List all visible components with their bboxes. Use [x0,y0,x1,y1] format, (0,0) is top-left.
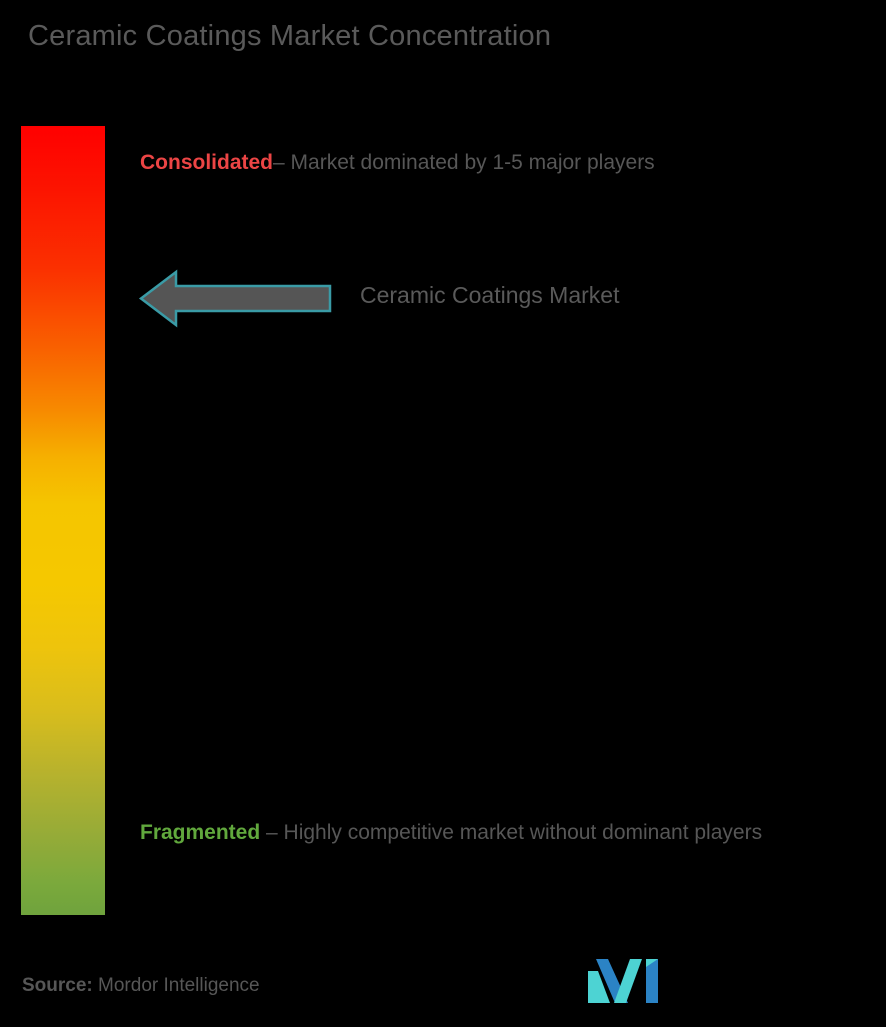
legend-consolidated-keyword: Consolidated [140,151,273,174]
mi-monogram-icon [588,957,662,1003]
left-arrow-icon [136,266,336,332]
page-title: Ceramic Coatings Market Concentration [28,20,551,53]
source-value: Mordor Intelligence [93,975,260,996]
market-position-label: Ceramic Coatings Market [360,282,619,309]
legend-fragmented-keyword: Fragmented [140,821,260,844]
market-position-arrow [136,266,336,332]
mordor-intelligence-logo [588,957,662,1003]
legend-fragmented-description: – Highly competitive market without domi… [260,821,762,844]
source-label: Source: [22,975,93,996]
legend-consolidated: Consolidated– Market dominated by 1-5 ma… [140,134,840,192]
source-attribution: Source: Mordor Intelligence [22,975,260,997]
legend-consolidated-description: – Market dominated by 1-5 major players [273,151,655,174]
market-concentration-gradient-bar [21,126,105,915]
legend-fragmented: Fragmented – Highly competitive market w… [140,804,840,862]
